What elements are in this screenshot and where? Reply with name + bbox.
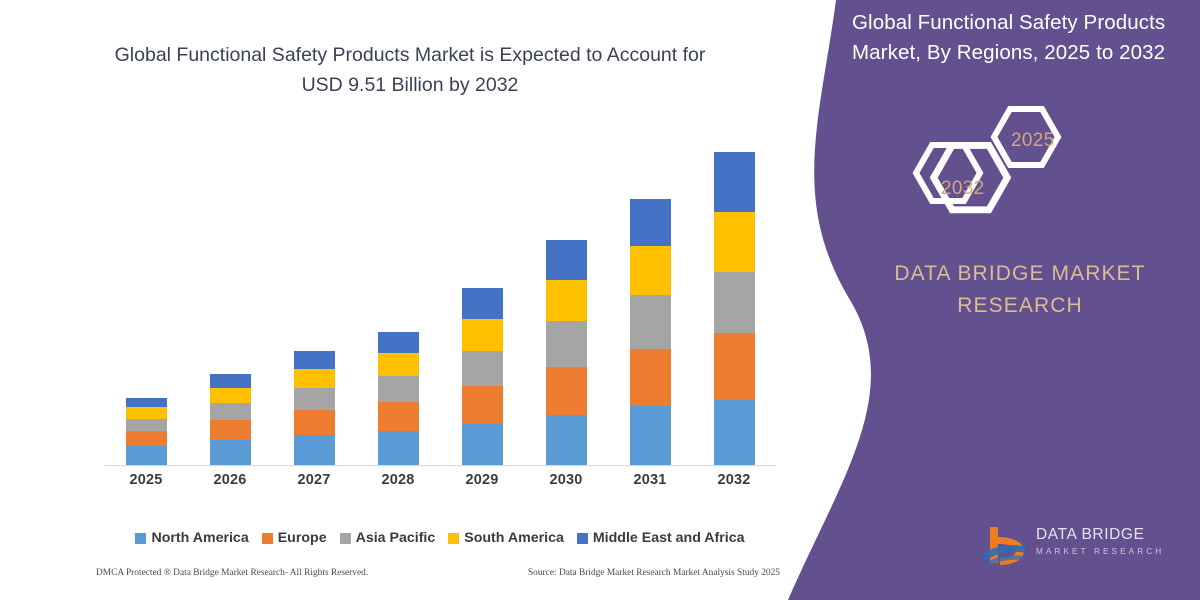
- bar-segment[interactable]: [378, 431, 419, 465]
- x-axis-tick-label: 2032: [692, 472, 776, 488]
- legend-label: South America: [464, 530, 564, 546]
- bar-segment[interactable]: [378, 353, 419, 376]
- hexagon-label-2032: 2032: [941, 178, 984, 200]
- legend-swatch-icon: [448, 533, 459, 544]
- x-axis-tick-label: 2026: [188, 472, 272, 488]
- legend-item[interactable]: South America: [448, 530, 564, 546]
- logo-subtitle: MARKET RESEARCH: [1036, 547, 1164, 556]
- legend-item[interactable]: Asia Pacific: [340, 530, 436, 546]
- bar-group: [608, 140, 692, 465]
- bar-segment[interactable]: [462, 424, 503, 465]
- chart-baseline: [104, 465, 776, 466]
- x-axis-tick-label: 2030: [524, 472, 608, 488]
- bar-segment[interactable]: [210, 388, 251, 403]
- bar-segment[interactable]: [210, 374, 251, 388]
- footer: DMCA Protected ® Data Bridge Market Rese…: [96, 568, 786, 578]
- logo-title: DATA BRIDGE: [1036, 526, 1164, 543]
- x-axis-tick-label: 2025: [104, 472, 188, 488]
- bar-segment[interactable]: [714, 212, 755, 272]
- bar-segment[interactable]: [714, 333, 755, 400]
- company-logo: DATA BRIDGE MARKET RESEARCH: [980, 521, 1180, 573]
- stacked-bar[interactable]: [546, 240, 587, 465]
- bar-segment[interactable]: [630, 349, 671, 406]
- bar-group: [524, 140, 608, 465]
- bar-segment[interactable]: [126, 446, 167, 465]
- bar-segment[interactable]: [294, 410, 335, 435]
- hexagon-outline-icons: [910, 96, 1120, 226]
- panel-heading: Global Functional Safety Products Market…: [852, 8, 1188, 67]
- stacked-bar[interactable]: [462, 288, 503, 465]
- bar-segment[interactable]: [126, 407, 167, 418]
- bar-segment[interactable]: [126, 431, 167, 446]
- bar-segment[interactable]: [294, 351, 335, 369]
- bar-segment[interactable]: [546, 367, 587, 415]
- bar-group: [692, 140, 776, 465]
- x-axis-tick-label: 2029: [440, 472, 524, 488]
- x-axis-tick-label: 2028: [356, 472, 440, 488]
- bar-segment[interactable]: [630, 199, 671, 246]
- data-bridge-logo-icon: [980, 523, 1032, 569]
- bar-segment[interactable]: [126, 419, 167, 431]
- footer-source: Source: Data Bridge Market Research Mark…: [528, 568, 780, 578]
- stacked-bar[interactable]: [378, 332, 419, 465]
- x-axis-tick-label: 2027: [272, 472, 356, 488]
- hexagon-badges: 2032 2025: [910, 96, 1120, 226]
- brand-name: DATA BRIDGE MARKET RESEARCH: [840, 258, 1200, 321]
- legend-item[interactable]: Europe: [262, 530, 327, 546]
- bar-segment[interactable]: [210, 440, 251, 465]
- bar-segment[interactable]: [378, 376, 419, 402]
- legend-swatch-icon: [135, 533, 146, 544]
- page-title: Global Functional Safety Products Market…: [100, 40, 720, 100]
- bar-segment[interactable]: [546, 280, 587, 321]
- bar-segment[interactable]: [714, 152, 755, 212]
- bar-segment[interactable]: [630, 406, 671, 465]
- bar-group: [440, 140, 524, 465]
- x-axis-tick-label: 2031: [608, 472, 692, 488]
- bar-segment[interactable]: [462, 288, 503, 319]
- bar-segment[interactable]: [630, 246, 671, 295]
- bar-group: [272, 140, 356, 465]
- bar-segment[interactable]: [714, 272, 755, 332]
- stacked-bar[interactable]: [294, 351, 335, 465]
- bar-segment[interactable]: [546, 240, 587, 280]
- legend-label: Europe: [278, 530, 327, 546]
- bar-segment[interactable]: [378, 402, 419, 431]
- stacked-bar[interactable]: [210, 374, 251, 465]
- chart-legend: North AmericaEuropeAsia PacificSouth Ame…: [104, 530, 776, 546]
- bar-segment[interactable]: [462, 319, 503, 351]
- legend-label: North America: [151, 530, 248, 546]
- bar-segment[interactable]: [294, 388, 335, 410]
- bar-segment[interactable]: [378, 332, 419, 353]
- bar-segment[interactable]: [462, 386, 503, 424]
- legend-swatch-icon: [262, 533, 273, 544]
- legend-swatch-icon: [577, 533, 588, 544]
- bar-group: [104, 140, 188, 465]
- footer-copyright: DMCA Protected ® Data Bridge Market Rese…: [96, 568, 368, 578]
- bar-segment[interactable]: [546, 321, 587, 367]
- legend-swatch-icon: [340, 533, 351, 544]
- stacked-bar[interactable]: [126, 398, 167, 465]
- bar-segment[interactable]: [294, 435, 335, 465]
- bar-segment[interactable]: [714, 400, 755, 465]
- bar-segment[interactable]: [210, 420, 251, 440]
- bar-segment[interactable]: [462, 351, 503, 386]
- legend-item[interactable]: Middle East and Africa: [577, 530, 745, 546]
- right-panel: Global Functional Safety Products Market…: [780, 0, 1200, 600]
- bar-segment[interactable]: [126, 398, 167, 408]
- bar-segment[interactable]: [630, 295, 671, 350]
- logo-text: DATA BRIDGE MARKET RESEARCH: [1036, 526, 1164, 556]
- legend-item[interactable]: North America: [135, 530, 248, 546]
- bar-segment[interactable]: [210, 403, 251, 420]
- legend-label: Middle East and Africa: [593, 530, 745, 546]
- bar-segment[interactable]: [294, 369, 335, 388]
- bar-group: [356, 140, 440, 465]
- bar-group: [188, 140, 272, 465]
- chart-x-axis: 20252026202720282029203020312032: [104, 472, 776, 496]
- stacked-bar[interactable]: [714, 152, 755, 465]
- bar-segment[interactable]: [546, 415, 587, 465]
- legend-label: Asia Pacific: [356, 530, 436, 546]
- chart-plot-area: [104, 140, 776, 466]
- hexagon-label-2025: 2025: [1011, 130, 1054, 152]
- stacked-bar[interactable]: [630, 199, 671, 465]
